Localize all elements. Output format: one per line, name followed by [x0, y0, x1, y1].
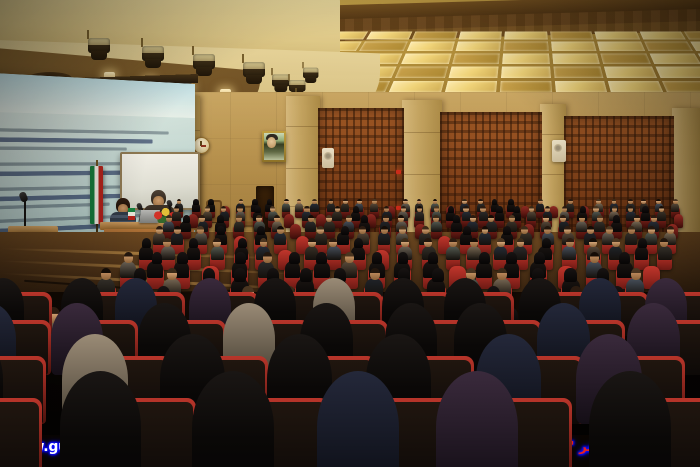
wall-speaker [552, 140, 566, 162]
audience-member-body [658, 246, 672, 261]
audience-member-head [359, 226, 366, 234]
audience-member-head [193, 199, 199, 205]
audience-member-head [508, 199, 514, 205]
audience-member-head [341, 226, 349, 235]
audience-member-head [628, 199, 633, 205]
audience-member-head [257, 226, 265, 235]
audience-member-head [237, 206, 242, 212]
audience-member-head [470, 215, 476, 222]
audience-member-body [378, 232, 390, 245]
audience-member-head [560, 215, 566, 222]
audience-member-head [612, 206, 617, 212]
audience-member-head [660, 238, 668, 247]
audience-member-head [252, 199, 258, 205]
audience-member-body [594, 221, 605, 232]
audience-member-head [381, 226, 388, 234]
audience-member-body [625, 232, 637, 245]
audience-member-head [566, 238, 574, 247]
ceiling-light-panel [684, 31, 700, 40]
audience-member-body [211, 246, 225, 261]
audience-member-head [470, 238, 478, 247]
ceiling-light-panel [504, 31, 547, 40]
audience-member-body [171, 232, 183, 245]
audience-member-body [310, 203, 318, 212]
audience-member-head [300, 268, 312, 281]
ceiling-light-panel [502, 54, 549, 64]
audience-member-head [562, 206, 567, 212]
audience-member-head [208, 199, 214, 205]
audience-member-body [315, 232, 327, 245]
audience-member-head [361, 215, 368, 223]
audience-member-head [403, 199, 408, 205]
audience-member-head [357, 199, 362, 205]
audience-member-head [428, 252, 439, 264]
audience-member-head [564, 226, 571, 234]
audience-member-head [538, 199, 543, 205]
ceiling-light-panel [448, 67, 498, 78]
audience-member-body [341, 203, 349, 212]
audience-member-head [308, 215, 314, 222]
audience-member-head [656, 199, 661, 205]
ceiling-light-panel [597, 42, 644, 51]
audience-member-body [576, 221, 587, 232]
ceiling-light-panel [407, 42, 454, 51]
audience-member-head [335, 206, 340, 212]
audience-member-head [346, 215, 352, 222]
audience-member-head [641, 199, 646, 205]
audience-member-head [345, 252, 354, 263]
audience-member-head [199, 215, 205, 222]
audience-member-head [238, 238, 247, 248]
audience-member-head [267, 199, 273, 205]
audience-member-head [197, 226, 204, 234]
audience-member-head [673, 199, 678, 205]
framed-portrait [262, 131, 286, 162]
audience-member-head [462, 199, 467, 205]
audience-member-head [372, 199, 377, 205]
audience-member-head [398, 215, 404, 222]
audience-member-head [284, 199, 289, 205]
audience-member-head [372, 252, 383, 264]
audience-member-head [235, 252, 246, 264]
audience-member-head [453, 215, 460, 223]
ceiling-light-panel [649, 54, 700, 64]
ceiling-light-panel [550, 31, 594, 40]
audience-member-head [174, 206, 179, 212]
audience-member-body [161, 246, 175, 261]
audience-member-head [568, 199, 573, 205]
audience-member-head [205, 206, 210, 212]
audience-member-head [433, 215, 439, 222]
audience-member-head [463, 206, 468, 212]
audience-member-head [543, 215, 549, 222]
audience-member-head [529, 206, 534, 212]
ceiling-light-panel [604, 67, 656, 78]
audience-member-head [217, 226, 225, 235]
audience-member-head [166, 215, 172, 222]
audience-member-head [619, 252, 630, 264]
audience-member-body [431, 221, 442, 232]
ceiling-light-panel [601, 54, 651, 64]
audience-member-head [189, 238, 198, 248]
audience-member-body [305, 221, 316, 232]
audience-member-head [597, 215, 603, 222]
audience-member-head [217, 215, 224, 223]
audience-member-body [274, 232, 286, 245]
audience-member-head [353, 206, 359, 213]
audience-member-body [172, 211, 181, 221]
audience-member-head [521, 226, 528, 234]
ceiling-light-panel [501, 67, 550, 78]
foreground-rows [0, 286, 700, 436]
ceiling-light-panel [452, 54, 500, 64]
audience-member-head [580, 206, 586, 213]
audience-member-head [593, 206, 598, 212]
audience-member-head [479, 252, 490, 264]
audience-member-head [183, 215, 190, 223]
audience-member-body [446, 246, 460, 261]
audience-member-body [494, 246, 508, 261]
audience-member-head [274, 215, 280, 222]
audience-member-head [308, 238, 316, 247]
audience-member-head [613, 215, 620, 223]
audience-member-head [398, 252, 409, 264]
ceiling-light-panel [412, 31, 457, 40]
audience-member-head [463, 226, 471, 235]
audience-member-head [156, 226, 163, 234]
audience-member-head [152, 252, 163, 264]
audience-member-body [163, 221, 174, 232]
audience-member-head [424, 238, 432, 247]
audience-member-head [263, 252, 272, 263]
audience-member-head [329, 238, 337, 247]
audience-member-head [401, 238, 409, 247]
audience-member-head [234, 268, 246, 281]
ceiling-light-panel [455, 42, 501, 51]
audience-member-head [587, 226, 594, 234]
audience-member-body [527, 211, 536, 221]
audience-member-head [312, 199, 317, 205]
audience-member-head [534, 252, 545, 264]
audience-member-head [634, 215, 640, 222]
audience-member-body [324, 221, 335, 232]
audience-member-body [479, 211, 488, 221]
audience-member-head [482, 226, 489, 234]
audience-member-head [177, 252, 188, 264]
ceiling-light-panel [504, 42, 549, 51]
exit-indicator-light [396, 170, 401, 174]
audience-member-head [432, 268, 444, 281]
audience-member-head [628, 226, 635, 234]
ceiling-light-panel [402, 54, 452, 64]
audience-member-head [255, 206, 261, 213]
audience-member-body [295, 203, 303, 212]
audience-member-body [657, 211, 666, 221]
audience-member-head [589, 238, 597, 247]
audience-member-head [317, 226, 324, 234]
audience-member-head [289, 252, 300, 264]
audience-member-head [590, 252, 599, 263]
audience-member-body [562, 246, 576, 261]
audience-member-head [497, 268, 507, 280]
audience-member-head [124, 252, 133, 263]
audience-member-body [282, 203, 290, 212]
ceiling-light-panel [644, 42, 693, 51]
audience-member-head [399, 226, 406, 234]
ceiling-light-panel [551, 42, 597, 51]
seat-shell [0, 402, 39, 467]
audience-member-head [354, 238, 363, 248]
audience-member-head [422, 226, 429, 234]
audience-member-head [480, 206, 485, 212]
audience-member-head [564, 268, 576, 281]
ceiling-light-panel [396, 67, 448, 78]
auditorium-photo: www.guilan.ac.ir / ۱۳۸۷ آذر ۲۶ " رابطه ع… [0, 0, 700, 467]
ceiling-light-panel [655, 67, 700, 78]
audience-member-head [326, 215, 332, 222]
audience-member-body [234, 221, 245, 232]
audience-member-head [631, 268, 641, 280]
audience-member-body [671, 203, 679, 212]
audience-member-head [506, 252, 517, 264]
ceiling-light-panel [458, 31, 502, 40]
audience-member-head [213, 238, 221, 247]
audience-member-head [497, 238, 505, 247]
ceiling-light-panel [552, 54, 600, 64]
ceiling-light-grid [336, 30, 700, 95]
audience-member-body [370, 203, 378, 212]
audience-member-head [612, 238, 620, 247]
audience-member-head [492, 199, 498, 205]
wall-speaker [322, 148, 334, 168]
audience-member-head [142, 238, 151, 248]
audience-member-head [638, 238, 647, 248]
audience-member-body [536, 203, 544, 212]
audience-member-head [488, 215, 494, 222]
foreground-seat[interactable] [0, 398, 42, 467]
audience-member-head [579, 215, 585, 222]
audience-member-head [448, 206, 454, 213]
audience-member-head [316, 252, 327, 264]
audience-member-head [174, 226, 181, 234]
audience-member-head [642, 206, 648, 213]
audience-member-head [651, 215, 657, 222]
audience-member-body [327, 246, 341, 261]
audience-member-body [415, 211, 424, 221]
audience-member-head [236, 215, 242, 222]
ceiling-light-panel [359, 42, 408, 51]
audience-member-head [503, 226, 511, 235]
audience-member-head [101, 268, 111, 280]
audience-member-head [256, 215, 262, 222]
audience-member-head [163, 238, 171, 247]
audience-member-head [514, 206, 520, 213]
audience-member-head [667, 226, 674, 234]
audience-member-head [496, 206, 502, 213]
ceiling-light-panel [594, 31, 639, 40]
audience-member-head [544, 226, 551, 234]
audience-member-body [332, 211, 341, 221]
audience-member-head [606, 226, 613, 234]
audience-member-head [542, 238, 551, 248]
audience-member-head [277, 226, 284, 234]
audience-member-head [383, 215, 389, 222]
audience-member-body [566, 203, 574, 212]
audience-member-body [479, 232, 491, 245]
audience-member-head [304, 206, 309, 212]
ceiling-light-panel [553, 67, 603, 78]
audience-member-head [545, 206, 550, 212]
ceiling-light-panel [639, 31, 686, 40]
audience-member-head [648, 226, 655, 234]
ceiling-light-panel [366, 31, 413, 40]
audience-member-head [509, 215, 515, 222]
ceiling-light-panel [336, 31, 368, 40]
audience-member-head [370, 268, 380, 280]
